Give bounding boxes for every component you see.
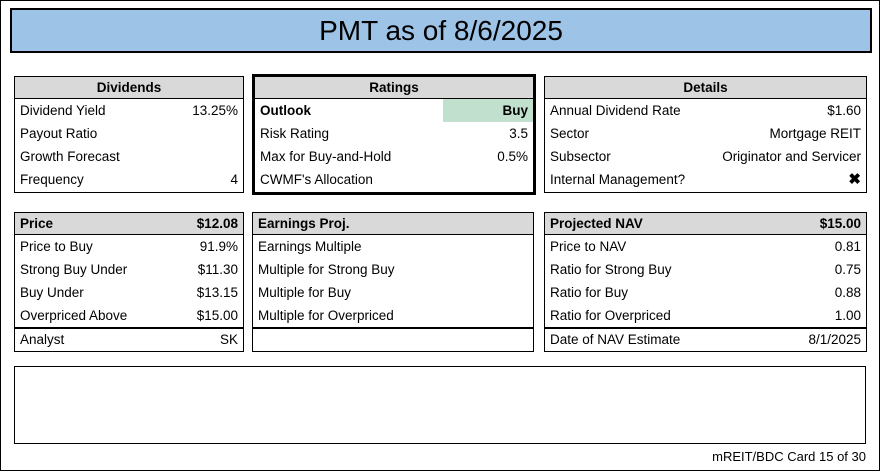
row-label: Ratio for Strong Buy	[550, 262, 672, 277]
table-row[interactable]: Max for Buy-and-Hold 0.5%	[255, 145, 533, 168]
table-row[interactable]: Buy Under $13.15	[15, 281, 243, 304]
footer: mREIT/BDC Card 15 of 30	[14, 447, 866, 465]
panel-price: Price $12.08 Price to Buy 91.9% Strong B…	[14, 212, 244, 352]
row-value: 8/1/2025	[808, 332, 861, 347]
row-label: Multiple for Buy	[258, 285, 351, 300]
table-row[interactable]: Earnings Multiple	[253, 235, 533, 258]
row-value: 4	[230, 172, 238, 187]
table-row-nav-date[interactable]: Date of NAV Estimate 8/1/2025	[545, 327, 866, 350]
panel-nav-value: $15.00	[820, 216, 861, 231]
page-title: PMT as of 8/6/2025	[319, 17, 563, 45]
row-value: Originator and Servicer	[722, 149, 861, 164]
panel-ratings-body: Outlook Buy Risk Rating 3.5 Max for Buy-…	[255, 99, 533, 191]
table-row[interactable]: Annual Dividend Rate $1.60	[545, 99, 866, 122]
panel-nav-header: Projected NAV $15.00	[545, 213, 866, 235]
panel-details: Details Annual Dividend Rate $1.60 Secto…	[544, 76, 867, 193]
footer-card-counter: mREIT/BDC Card 15 of 30	[712, 449, 866, 464]
row-label: Risk Rating	[260, 126, 329, 141]
row-value: $1.60	[827, 103, 861, 118]
panel-price-value: $12.08	[197, 216, 238, 231]
row-value: 13.25%	[192, 103, 238, 118]
row-value: 0.88	[835, 285, 861, 300]
card-page: PMT as of 8/6/2025 Dividends Dividend Yi…	[0, 0, 880, 471]
table-row[interactable]: Risk Rating 3.5	[255, 122, 533, 145]
table-row[interactable]: Ratio for Buy 0.88	[545, 281, 866, 304]
panel-details-title: Details	[683, 80, 727, 95]
cross-icon: ✖	[848, 172, 861, 187]
row-label: Analyst	[20, 332, 64, 347]
table-row[interactable]: Multiple for Buy	[253, 281, 533, 304]
row-value: 0.5%	[497, 149, 528, 164]
outlook-badge: Buy	[443, 99, 533, 122]
table-row[interactable]: Ratio for Overpriced 1.00	[545, 304, 866, 327]
row-label: CWMF's Allocation	[260, 172, 373, 187]
table-row-analyst[interactable]: Analyst SK	[15, 327, 243, 350]
row-label: Date of NAV Estimate	[550, 332, 680, 347]
panel-dividends-title: Dividends	[97, 80, 162, 95]
panel-ratings-header: Ratings	[255, 77, 533, 99]
panel-ratings-title: Ratings	[369, 80, 419, 95]
row-label: Internal Management?	[550, 172, 685, 187]
row-label: Ratio for Buy	[550, 285, 628, 300]
panel-price-header: Price $12.08	[15, 213, 243, 235]
row-label: Sector	[550, 126, 589, 141]
table-row[interactable]: Growth Forecast	[15, 145, 243, 168]
row-label: Earnings Multiple	[258, 239, 362, 254]
panel-nav-body: Price to NAV 0.81 Ratio for Strong Buy 0…	[545, 235, 866, 350]
table-row-outlook[interactable]: Outlook Buy	[255, 99, 533, 122]
row-label: Growth Forecast	[20, 149, 120, 164]
table-row[interactable]: Payout Ratio	[15, 122, 243, 145]
row-value: SK	[220, 332, 238, 347]
row-value: 0.81	[835, 239, 861, 254]
row-value: 0.75	[835, 262, 861, 277]
panel-details-body: Annual Dividend Rate $1.60 Sector Mortga…	[545, 99, 866, 191]
panel-earnings-header: Earnings Proj.	[253, 213, 533, 235]
table-row[interactable]: Price to NAV 0.81	[545, 235, 866, 258]
panel-projected-nav: Projected NAV $15.00 Price to NAV 0.81 R…	[544, 212, 867, 352]
row-label: Multiple for Overpriced	[258, 308, 394, 323]
table-row[interactable]: Frequency 4	[15, 168, 243, 191]
row-label: Frequency	[20, 172, 84, 187]
panel-dividends-body: Dividend Yield 13.25% Payout Ratio Growt…	[15, 99, 243, 191]
card-title-bar: PMT as of 8/6/2025	[10, 8, 872, 53]
row-value: $13.15	[197, 285, 238, 300]
panel-earnings-title: Earnings Proj.	[258, 216, 350, 231]
row-value: $15.00	[197, 308, 238, 323]
panel-earnings-projection: Earnings Proj. Earnings Multiple Multipl…	[252, 212, 534, 352]
panel-price-body: Price to Buy 91.9% Strong Buy Under $11.…	[15, 235, 243, 350]
table-row[interactable]: Ratio for Strong Buy 0.75	[545, 258, 866, 281]
panel-ratings[interactable]: Ratings Outlook Buy Risk Rating 3.5 Max …	[252, 74, 536, 195]
row-label: Multiple for Strong Buy	[258, 262, 395, 277]
table-row[interactable]: Internal Management? ✖	[545, 168, 866, 191]
table-row[interactable]: Dividend Yield 13.25%	[15, 99, 243, 122]
table-row[interactable]: Sector Mortgage REIT	[545, 122, 866, 145]
row-label: Annual Dividend Rate	[550, 103, 681, 118]
table-row[interactable]: Multiple for Overpriced	[253, 304, 533, 327]
row-label: Outlook	[260, 103, 311, 118]
row-value: 91.9%	[200, 239, 238, 254]
table-row-empty[interactable]	[253, 327, 533, 350]
row-label: Strong Buy Under	[20, 262, 127, 277]
table-row[interactable]: Multiple for Strong Buy	[253, 258, 533, 281]
row-value: 1.00	[835, 308, 861, 323]
row-value: 3.5	[509, 126, 528, 141]
table-row[interactable]: Price to Buy 91.9%	[15, 235, 243, 258]
row-label: Buy Under	[20, 285, 84, 300]
row-label: Ratio for Overpriced	[550, 308, 671, 323]
table-row[interactable]: Subsector Originator and Servicer	[545, 145, 866, 168]
row-value: Buy	[502, 103, 528, 118]
row-label: Overpriced Above	[20, 308, 127, 323]
panel-dividends-header: Dividends	[15, 77, 243, 99]
panel-dividends: Dividends Dividend Yield 13.25% Payout R…	[14, 76, 244, 193]
row-label: Payout Ratio	[20, 126, 97, 141]
row-label: Price to NAV	[550, 239, 626, 254]
table-row[interactable]: CWMF's Allocation	[255, 168, 533, 191]
panel-details-header: Details	[545, 77, 866, 99]
row-value: $11.30	[198, 262, 238, 277]
panel-price-title: Price	[20, 216, 53, 231]
row-label: Dividend Yield	[20, 103, 106, 118]
row-label: Max for Buy-and-Hold	[260, 149, 391, 164]
row-value: Mortgage REIT	[769, 126, 861, 141]
row-label: Price to Buy	[20, 239, 93, 254]
table-row[interactable]: Overpriced Above $15.00	[15, 304, 243, 327]
notes-box[interactable]	[14, 366, 866, 444]
row-label: Subsector	[550, 149, 611, 164]
panel-earnings-body: Earnings Multiple Multiple for Strong Bu…	[253, 235, 533, 350]
panel-nav-title: Projected NAV	[550, 216, 643, 231]
table-row[interactable]: Strong Buy Under $11.30	[15, 258, 243, 281]
